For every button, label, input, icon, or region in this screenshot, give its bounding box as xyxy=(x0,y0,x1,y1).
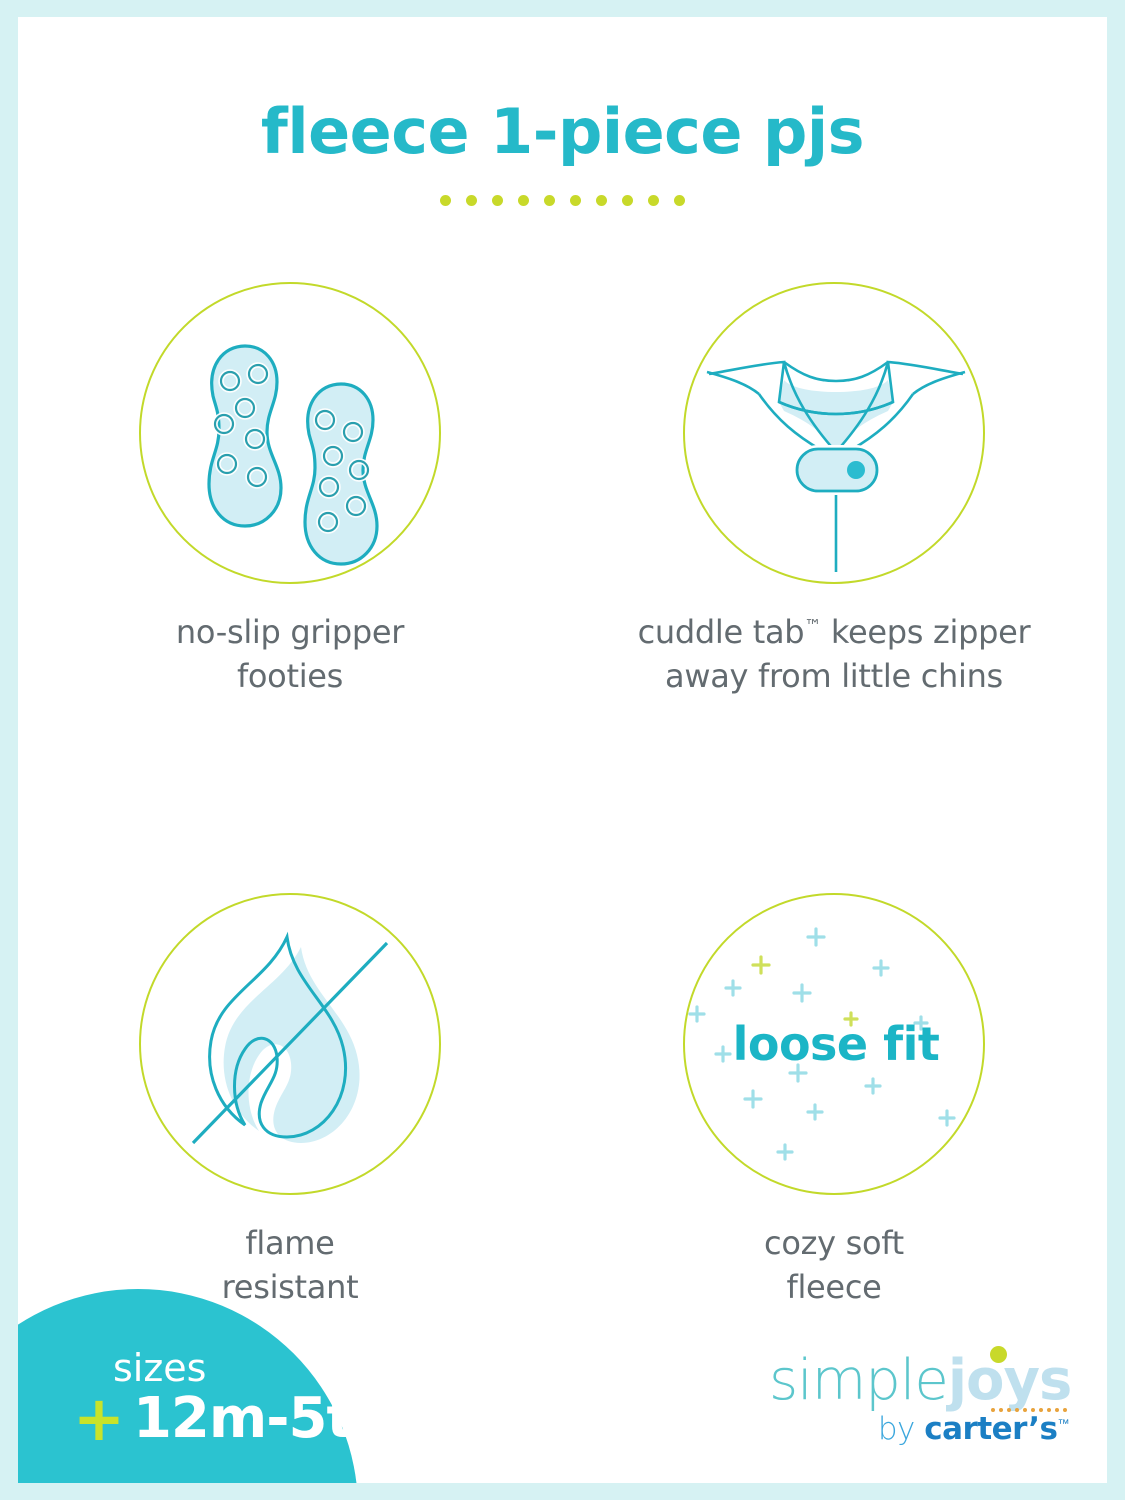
sizes-label: sizes xyxy=(113,1349,353,1389)
divider-dot xyxy=(648,195,659,206)
cuddle-tab-collar-icon xyxy=(683,282,985,584)
logo-j-dot-icon xyxy=(990,1346,1007,1363)
feature-row-2: flame resistant xyxy=(18,893,1107,1309)
caption-line-1: flame xyxy=(222,1221,359,1265)
feature-caption: no-slip gripper footies xyxy=(176,610,404,698)
sizes-badge-content: sizes + 12m-5t xyxy=(73,1349,353,1447)
caption-line-1: no-slip gripper xyxy=(176,610,404,654)
page-title: fleece 1-piece pjs xyxy=(18,95,1107,168)
caption-line-1: cozy soft xyxy=(764,1221,904,1265)
feature-grid: no-slip gripper footies xyxy=(18,282,1107,1310)
loose-fit-badge: loose fit xyxy=(685,1017,987,1071)
logo-underline-dot xyxy=(1039,1408,1043,1412)
logo-wordmark: simplejoys xyxy=(769,1352,1069,1409)
feature-caption: flame resistant xyxy=(222,1221,359,1309)
logo-trademark-icon: ™ xyxy=(1058,1417,1070,1431)
feature-flame-resistant: flame resistant xyxy=(18,893,562,1309)
logo-carters-text: carter’s xyxy=(924,1411,1057,1447)
caption-line-2: footies xyxy=(176,654,404,698)
feature-caption: cuddle tab™ keeps zipper away from littl… xyxy=(638,610,1031,698)
sizes-value-row: + 12m-5t xyxy=(73,1391,353,1447)
caption-line-2: fleece xyxy=(764,1265,904,1309)
brand-logo: simplejoys by carter’s™ xyxy=(769,1352,1069,1445)
logo-simple-text: simple xyxy=(769,1348,948,1413)
logo-underline-dot xyxy=(1023,1408,1027,1412)
infographic-page: fleece 1-piece pjs xyxy=(0,0,1125,1500)
caption-line-2: resistant xyxy=(222,1265,359,1309)
no-flame-icon xyxy=(139,893,441,1195)
logo-underline-dot xyxy=(1047,1408,1051,1412)
feature-cozy-soft-fleece: loose fit cozy soft fleece xyxy=(562,893,1106,1309)
feature-row-1: no-slip gripper footies xyxy=(18,282,1107,698)
divider-dot xyxy=(440,195,451,206)
infographic-content: fleece 1-piece pjs xyxy=(18,17,1107,1483)
divider-dot xyxy=(518,195,529,206)
logo-underline-dots xyxy=(991,1408,1067,1412)
sizes-badge: sizes + 12m-5t xyxy=(18,1289,358,1483)
logo-underline-dot xyxy=(1063,1408,1067,1412)
logo-by-text: by xyxy=(878,1411,924,1447)
caption-line-2: away from little chins xyxy=(638,654,1031,698)
loose-fit-icon: loose fit xyxy=(683,893,985,1195)
divider-dot xyxy=(596,195,607,206)
plus-icon: + xyxy=(73,1394,125,1444)
logo-subline: by carter’s™ xyxy=(769,1413,1069,1445)
divider-dot xyxy=(492,195,503,206)
sizes-value: 12m-5t xyxy=(133,1391,352,1447)
feature-caption: cozy soft fleece xyxy=(764,1221,904,1309)
gripper-footies-icon xyxy=(139,282,441,584)
logo-underline-dot xyxy=(1031,1408,1035,1412)
logo-underline-dot xyxy=(999,1408,1003,1412)
divider-dot xyxy=(570,195,581,206)
logo-joys-text: joys xyxy=(948,1348,1072,1413)
logo-underline-dot xyxy=(1007,1408,1011,1412)
logo-underline-dot xyxy=(991,1408,995,1412)
logo-underline-dot xyxy=(1055,1408,1059,1412)
title-divider-dots xyxy=(18,195,1107,206)
divider-dot xyxy=(466,195,477,206)
divider-dot xyxy=(544,195,555,206)
divider-dot xyxy=(622,195,633,206)
divider-dot xyxy=(674,195,685,206)
caption-line-1: cuddle tab™ keeps zipper xyxy=(638,610,1031,654)
logo-underline-dot xyxy=(1015,1408,1019,1412)
feature-cuddle-tab: cuddle tab™ keeps zipper away from littl… xyxy=(562,282,1106,698)
feature-gripper-footies: no-slip gripper footies xyxy=(18,282,562,698)
